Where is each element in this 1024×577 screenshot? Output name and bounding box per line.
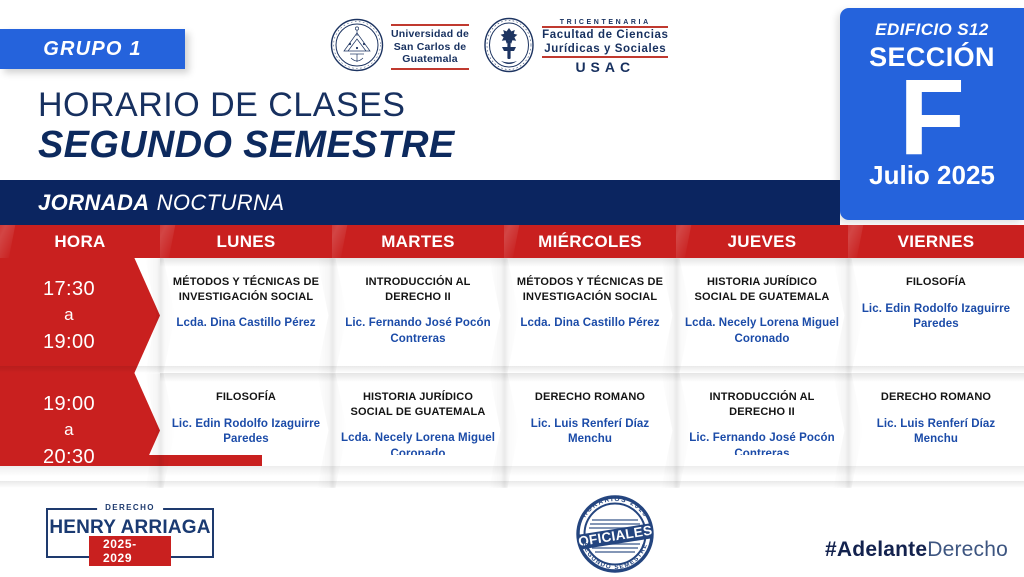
hashtag-light: Derecho [927, 538, 1008, 561]
course-name: DERECHO ROMANO [871, 390, 1001, 405]
time-separator: a [43, 303, 95, 327]
usac-acronym: USAC [575, 58, 635, 75]
column-header-viernes: VIERNES [848, 225, 1024, 258]
time-start: 17:30 [43, 278, 95, 300]
page-title: HORARIO DE CLASES SEGUNDO SEMESTRE [38, 88, 455, 168]
header-sheen [160, 225, 176, 258]
section-letter: F [899, 69, 965, 164]
time-end: 19:00 [43, 331, 95, 353]
title-line-1: HORARIO DE CLASES [38, 88, 455, 122]
column-header-label: VIERNES [898, 232, 975, 252]
usac-logo-text: Universidad de San Carlos de Guatemala [391, 24, 469, 69]
schedule-table: HORA LUNES MARTES MIÉRCOLES JUEVES VIERN… [0, 225, 1024, 488]
course-name: HISTORIA JURÍDICO SOCIAL DE GUATEMALA [332, 390, 504, 419]
section-panel: EDIFICIO S12 SECCIÓN F Julio 2025 [840, 8, 1024, 220]
class-cell-lunes: MÉTODOS Y TÉCNICAS DE INVESTIGACIÓN SOCI… [160, 258, 332, 373]
usac-logo-lines: Universidad de San Carlos de Guatemala [391, 26, 469, 67]
column-header-label: HORA [54, 232, 105, 252]
column-header-lunes: LUNES [160, 225, 332, 258]
month-label: Julio 2025 [869, 160, 995, 191]
course-name: INTRODUCCIÓN AL DERECHO II [332, 275, 504, 304]
column-header-miercoles: MIÉRCOLES [504, 225, 676, 258]
professor-name: Lcda. Necely Lorena Miguel Coronado [676, 316, 848, 347]
time-start: 19:00 [43, 393, 95, 415]
time-end: 20:30 [43, 446, 95, 468]
logo-rule-bottom [391, 68, 469, 70]
column-header-label: MIÉRCOLES [538, 232, 642, 252]
class-cell-viernes: FILOSOFÍA Lic. Edin Rodolfo Izaguirre Pa… [848, 258, 1024, 373]
professor-name: Lcda. Dina Castillo Pérez [512, 316, 667, 331]
footer-red-accent [0, 455, 262, 466]
class-cell-martes: INTRODUCCIÓN AL DERECHO II Lic. Fernando… [332, 258, 504, 373]
course-name: HISTORIA JURÍDICO SOCIAL DE GUATEMALA [676, 275, 848, 304]
professor-name: Lic. Luis Renferí Díaz Menchu [504, 417, 676, 448]
institution-logos: Universidad de San Carlos de Guatemala [330, 14, 668, 80]
usac-line-3: Guatemala [402, 53, 458, 65]
dean-term-years: 2025-2029 [89, 536, 171, 566]
official-stamp-icon: OFICIALES HORARIOS 2025 SEGUNDO SEMESTRE [566, 492, 664, 574]
column-header-label: MARTES [381, 232, 455, 252]
group-badge-label: GRUPO 1 [43, 38, 141, 61]
professor-name: Lic. Edin Rodolfo Izaguirre Paredes [848, 302, 1024, 333]
usac-line-1: Universidad de [391, 28, 469, 40]
header-sheen [0, 225, 16, 258]
header-sheen [676, 225, 692, 258]
column-header-jueves: JUEVES [676, 225, 848, 258]
header-sheen [848, 225, 864, 258]
time-separator: a [43, 418, 95, 442]
jornada-word-2: NOCTURNA [157, 190, 285, 216]
header-sheen [332, 225, 348, 258]
usac-line-2: San Carlos de [394, 41, 467, 53]
header-sheen [504, 225, 520, 258]
facultad-line-1: Facultad de Ciencias [542, 28, 668, 42]
facultad-logo: TRICENTENARIA Facultad de Ciencias Juríd… [483, 17, 668, 78]
jornada-bar: JORNADA NOCTURNA [0, 180, 840, 225]
hashtag-slogan: #AdelanteDerecho [825, 538, 1008, 562]
professor-name: Lcda. Dina Castillo Pérez [168, 316, 323, 331]
time-cell: 17:30 a 19:00 [0, 258, 160, 373]
column-header-hora: HORA [0, 225, 160, 258]
dean-department-label: DERECHO [97, 503, 163, 512]
column-header-label: JUEVES [728, 232, 797, 252]
time-range: 19:00 a 20:30 [43, 390, 117, 471]
facultad-seal-icon [483, 17, 535, 78]
time-range: 17:30 a 19:00 [43, 275, 117, 356]
footer-shadow [0, 466, 1024, 476]
course-name: MÉTODOS Y TÉCNICAS DE INVESTIGACIÓN SOCI… [504, 275, 676, 304]
course-name: FILOSOFÍA [896, 275, 976, 290]
hashtag-bold: #Adelante [825, 538, 927, 561]
professor-name: Lic. Fernando José Pocón Contreras [332, 316, 504, 347]
usac-seal-icon [330, 18, 384, 77]
course-name: FILOSOFÍA [206, 390, 286, 405]
column-header-martes: MARTES [332, 225, 504, 258]
class-cell-miercoles: MÉTODOS Y TÉCNICAS DE INVESTIGACIÓN SOCI… [504, 258, 676, 373]
table-header-row: HORA LUNES MARTES MIÉRCOLES JUEVES VIERN… [0, 225, 1024, 258]
table-row: 17:30 a 19:00 MÉTODOS Y TÉCNICAS DE INVE… [0, 258, 1024, 373]
title-line-2: SEGUNDO SEMESTRE [38, 124, 455, 168]
professor-name: Lic. Luis Renferí Díaz Menchu [848, 417, 1024, 448]
column-header-label: LUNES [216, 232, 275, 252]
usac-logo: Universidad de San Carlos de Guatemala [330, 18, 469, 77]
group-badge: GRUPO 1 [0, 29, 185, 69]
dean-signature-block: DERECHO HENRY ARRIAGA Decano 2025-2029 [46, 508, 214, 558]
course-name: DERECHO ROMANO [525, 390, 655, 405]
jornada-word-1: JORNADA [38, 190, 150, 216]
professor-name: Lic. Edin Rodolfo Izaguirre Paredes [160, 417, 332, 448]
course-name: INTRODUCCIÓN AL DERECHO II [676, 390, 848, 419]
building-label: EDIFICIO S12 [875, 20, 988, 40]
schedule-poster: GRUPO 1 [0, 0, 1024, 577]
facultad-line-2: Jurídicas y Sociales [544, 42, 666, 56]
facultad-logo-text: TRICENTENARIA Facultad de Ciencias Juríd… [542, 19, 668, 75]
course-name: MÉTODOS Y TÉCNICAS DE INVESTIGACIÓN SOCI… [160, 275, 332, 304]
class-cell-jueves: HISTORIA JURÍDICO SOCIAL DE GUATEMALA Lc… [676, 258, 848, 373]
tricentenaria-label: TRICENTENARIA [560, 19, 651, 26]
